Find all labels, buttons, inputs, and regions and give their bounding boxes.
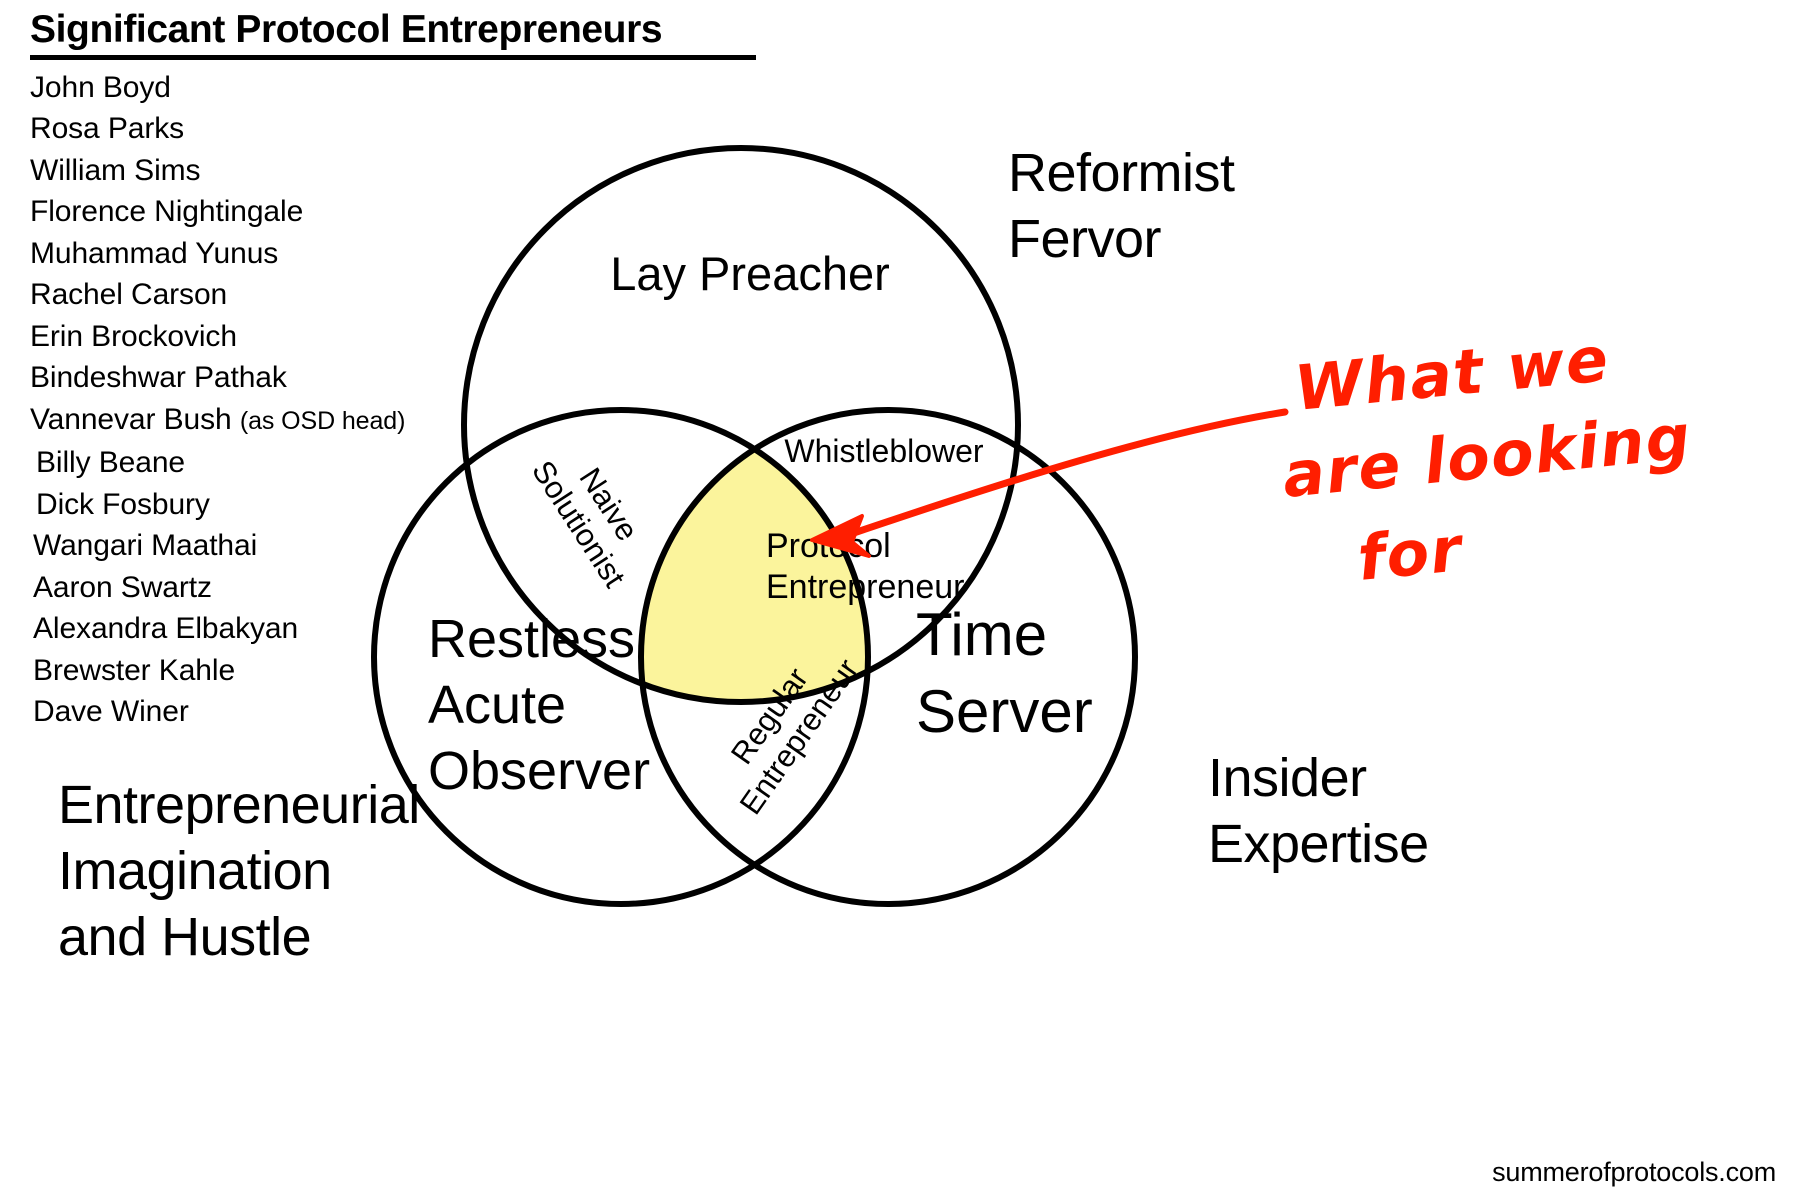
diagram-page: Significant Protocol Entrepreneurs John … (0, 0, 1800, 1200)
circle-label-line: Restless (428, 609, 635, 669)
intersection-label-whistleblower: Whistleblower (784, 433, 984, 469)
center-label-line-2: Entrepreneur (766, 568, 964, 606)
annotation-line-3: for (1354, 512, 1467, 595)
annotation-line-1: What we (1291, 322, 1612, 425)
circle-label-line: Time (916, 601, 1047, 668)
intersection-label-naive-solutionist: Naive Solutionist (525, 435, 663, 594)
circle-label-line: Acute (428, 675, 566, 735)
circle-label-restless-acute-observer: Restless Acute Observer (428, 609, 650, 801)
circle-label-lay-preacher: Lay Preacher (610, 247, 890, 300)
annotation-handwritten-note: What we are looking for (1279, 322, 1694, 595)
venn-diagram: Lay Preacher Restless Acute Observer Tim… (0, 0, 1800, 1200)
circle-label-line: Server (916, 678, 1093, 745)
circle-label-time-server: Time Server (916, 601, 1093, 745)
circle-label-line: Observer (428, 741, 650, 801)
